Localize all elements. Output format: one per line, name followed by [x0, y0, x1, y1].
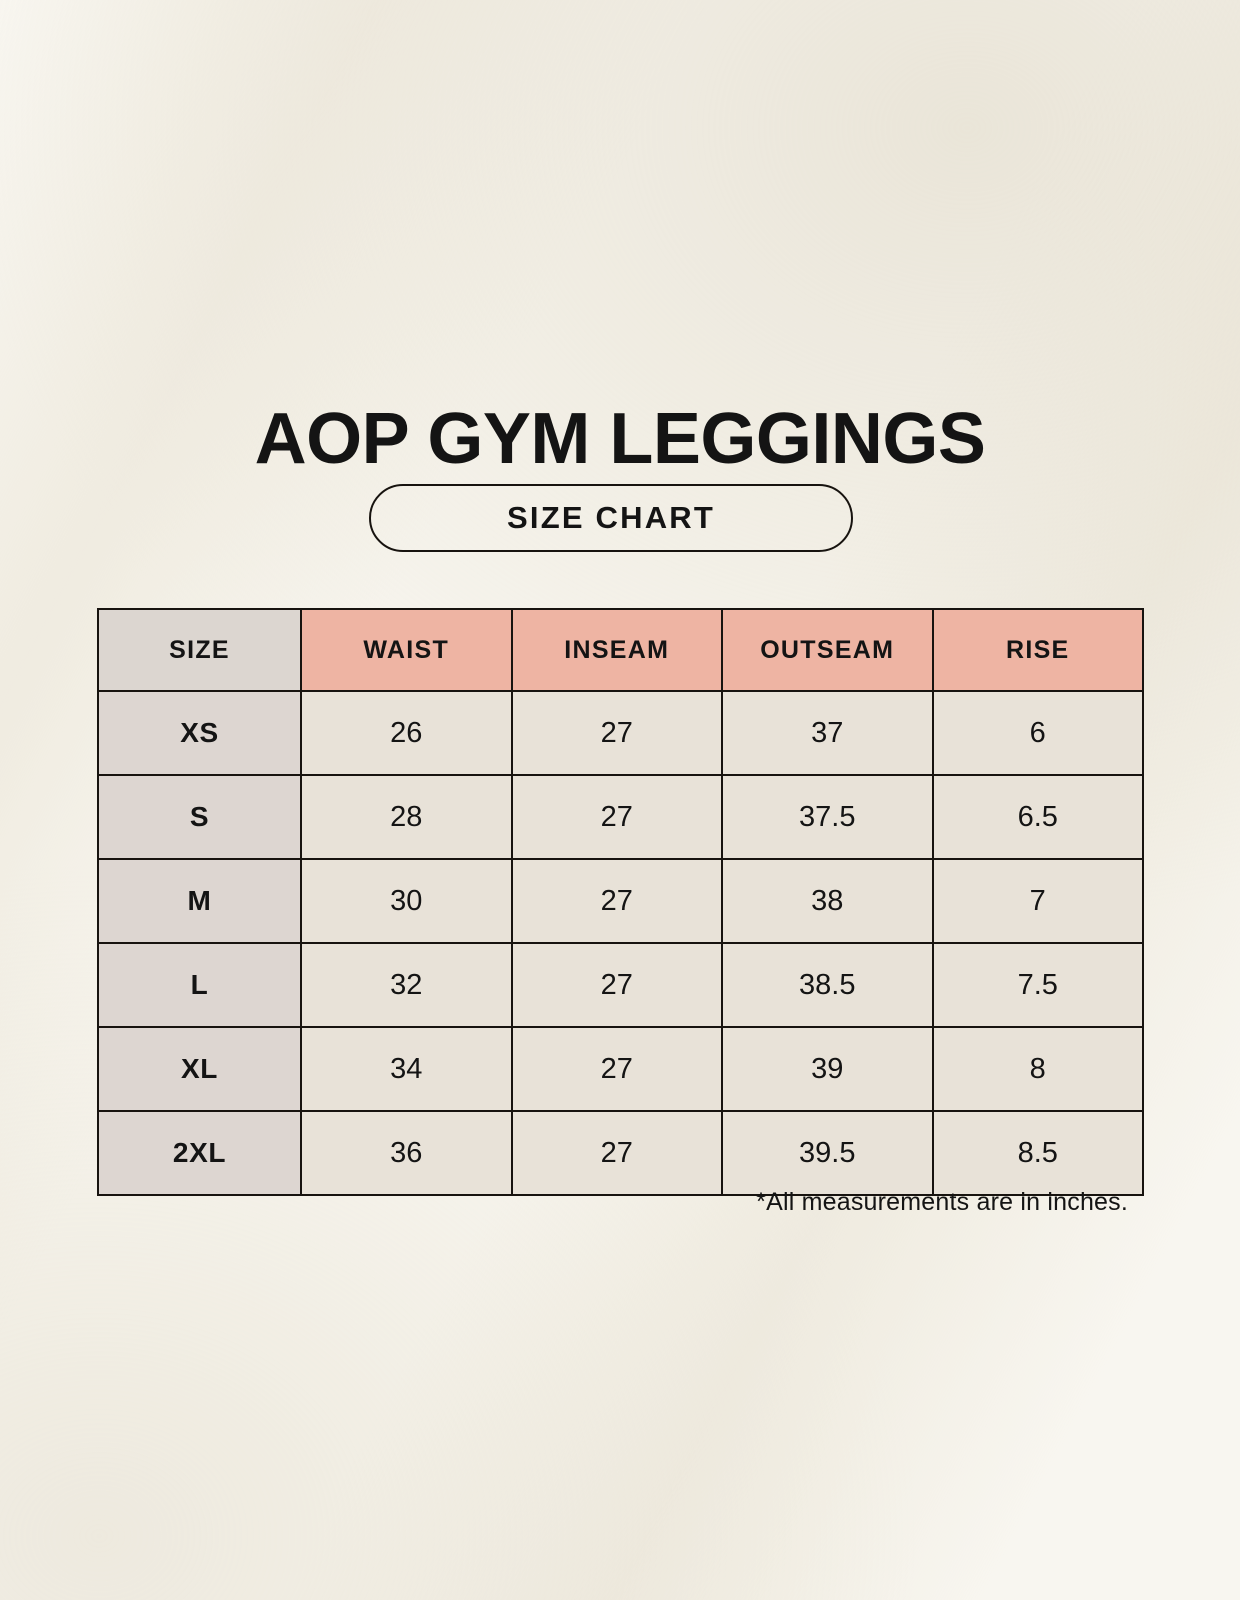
cell-inseam: 27 — [512, 691, 723, 775]
column-header-rise: RISE — [933, 609, 1144, 691]
cell-rise: 6.5 — [933, 775, 1144, 859]
size-chart-page: AOP GYM LEGGINGS SIZE CHART SIZE WAIST I… — [0, 0, 1240, 1600]
cell-waist: 26 — [301, 691, 512, 775]
cell-rise: 7.5 — [933, 943, 1144, 1027]
column-header-waist: WAIST — [301, 609, 512, 691]
table-header-row: SIZE WAIST INSEAM OUTSEAM RISE — [98, 609, 1143, 691]
size-chart-table: SIZE WAIST INSEAM OUTSEAM RISE XS 26 27 … — [97, 608, 1144, 1196]
cell-inseam: 27 — [512, 943, 723, 1027]
cell-size: L — [98, 943, 301, 1027]
cell-rise: 8.5 — [933, 1111, 1144, 1195]
cell-inseam: 27 — [512, 1111, 723, 1195]
cell-outseam: 37.5 — [722, 775, 933, 859]
page-title: AOP GYM LEGGINGS — [0, 400, 1240, 478]
table-row: XS 26 27 37 6 — [98, 691, 1143, 775]
cell-size: M — [98, 859, 301, 943]
cell-size: 2XL — [98, 1111, 301, 1195]
cell-rise: 8 — [933, 1027, 1144, 1111]
table-header: SIZE WAIST INSEAM OUTSEAM RISE — [98, 609, 1143, 691]
size-chart-badge-label: SIZE CHART — [507, 502, 715, 535]
table-row: L 32 27 38.5 7.5 — [98, 943, 1143, 1027]
table-row: M 30 27 38 7 — [98, 859, 1143, 943]
size-chart-badge: SIZE CHART — [369, 484, 853, 552]
column-header-outseam: OUTSEAM — [722, 609, 933, 691]
cell-waist: 34 — [301, 1027, 512, 1111]
cell-rise: 7 — [933, 859, 1144, 943]
cell-inseam: 27 — [512, 859, 723, 943]
table-row: XL 34 27 39 8 — [98, 1027, 1143, 1111]
cell-waist: 28 — [301, 775, 512, 859]
cell-waist: 30 — [301, 859, 512, 943]
cell-outseam: 38 — [722, 859, 933, 943]
cell-waist: 32 — [301, 943, 512, 1027]
cell-outseam: 39 — [722, 1027, 933, 1111]
measurement-units-note: *All measurements are in inches. — [0, 1188, 1128, 1217]
column-header-inseam: INSEAM — [512, 609, 723, 691]
table-body: XS 26 27 37 6 S 28 27 37.5 6.5 M 30 27 3… — [98, 691, 1143, 1195]
cell-rise: 6 — [933, 691, 1144, 775]
cell-outseam: 38.5 — [722, 943, 933, 1027]
cell-size: S — [98, 775, 301, 859]
table-row: 2XL 36 27 39.5 8.5 — [98, 1111, 1143, 1195]
cell-outseam: 39.5 — [722, 1111, 933, 1195]
cell-waist: 36 — [301, 1111, 512, 1195]
column-header-size: SIZE — [98, 609, 301, 691]
cell-inseam: 27 — [512, 775, 723, 859]
table-row: S 28 27 37.5 6.5 — [98, 775, 1143, 859]
cell-size: XS — [98, 691, 301, 775]
cell-size: XL — [98, 1027, 301, 1111]
cell-inseam: 27 — [512, 1027, 723, 1111]
cell-outseam: 37 — [722, 691, 933, 775]
